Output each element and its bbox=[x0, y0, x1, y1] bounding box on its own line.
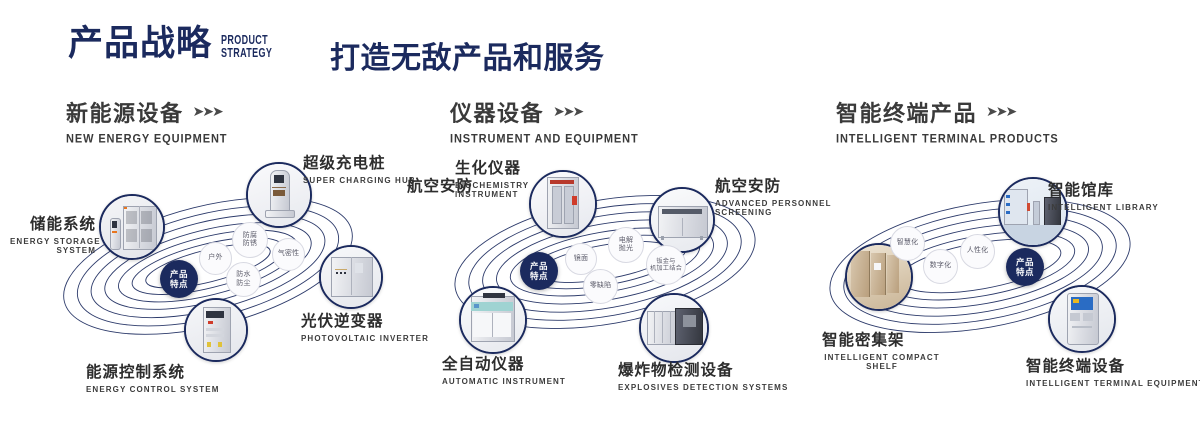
page-header: 产品战略 PRODUCT STRATEGY bbox=[68, 26, 292, 61]
section-title-cn: 仪器设备 ➤➤➤ bbox=[450, 96, 639, 128]
node-explosives-detection-systems[interactable] bbox=[639, 293, 709, 363]
section-title-en: INTELLIGENT TERMINAL PRODUCTS bbox=[836, 133, 1059, 146]
node-energy-storage-system[interactable] bbox=[99, 194, 165, 260]
label-automatic-instrument: 全自动仪器 AUTOMATIC INSTRUMENT bbox=[442, 352, 566, 386]
section-title-cn: 新能源设备 ➤➤➤ bbox=[66, 96, 227, 128]
label-biochemistry-instrument: 生化仪器 BIOCHEMISTRY INSTRUMENT bbox=[455, 156, 529, 199]
section-title-en: INSTRUMENT AND EQUIPMENT bbox=[450, 133, 639, 146]
chevron-right-icon: ➤➤➤ bbox=[193, 103, 222, 120]
section-title-instrument: 仪器设备 ➤➤➤ INSTRUMENT AND EQUIPMENT bbox=[450, 96, 639, 145]
section-title-new-energy: 新能源设备 ➤➤➤ NEW ENERGY EQUIPMENT bbox=[66, 96, 227, 145]
page-title: 产品战略 bbox=[68, 26, 212, 61]
feature-bubble: 钣金与 机加工结合 bbox=[646, 245, 686, 285]
label-energy-control-system: 能源控制系统 ENERGY CONTROL SYSTEM bbox=[86, 360, 220, 394]
feature-bubble: 数字化 bbox=[923, 249, 958, 284]
diagram-instrument: 产品 特点 镜面 电解 抛光 钣金与 机加工结合 零缺陷 航空安防 生化仪器 B… bbox=[420, 150, 810, 410]
feature-bubble: 电解 抛光 bbox=[608, 227, 644, 263]
section-title-en: NEW ENERGY EQUIPMENT bbox=[66, 133, 227, 146]
feature-bubble: 人性化 bbox=[960, 234, 995, 269]
section-title-cn: 智能终端产品 ➤➤➤ bbox=[836, 96, 1059, 128]
page-title-english-line1: PRODUCT bbox=[221, 34, 272, 47]
label-photovoltaic-inverter: 光伏逆变器 PHOTOVOLTAIC INVERTER bbox=[301, 309, 429, 343]
node-intelligent-terminal-equipment[interactable] bbox=[1048, 285, 1116, 353]
node-advanced-personnel-screening[interactable] bbox=[649, 187, 715, 253]
feature-bubble: 零缺陷 bbox=[583, 269, 618, 304]
diagram-intelligent-terminal: 智慧化 数字化 人性化 产品 特点 智能馆库 INTELLIGENT LIBRA… bbox=[810, 150, 1200, 410]
node-photovoltaic-inverter[interactable] bbox=[319, 245, 383, 309]
core-bubble-product-features: 产品 特点 bbox=[1006, 248, 1044, 286]
label-intelligent-compact-shelf: 智能密集架 INTELLIGENT COMPACT SHELF bbox=[822, 328, 942, 371]
label-explosives-detection-systems: 爆炸物检测设备 EXPLOSIVES DETECTION SYSTEMS bbox=[618, 358, 788, 392]
feature-bubble: 气密性 bbox=[272, 238, 305, 271]
feature-bubble: 智慧化 bbox=[890, 226, 925, 261]
chevron-right-icon: ➤➤➤ bbox=[553, 103, 582, 120]
feature-bubble: 防水 防尘 bbox=[226, 262, 261, 297]
core-bubble-product-features: 产品 特点 bbox=[160, 260, 198, 298]
label-super-charging-hub: 超级充电桩 SUPER CHARGING HUB bbox=[303, 151, 416, 185]
node-energy-control-system[interactable] bbox=[184, 298, 248, 362]
page-title-english: PRODUCT STRATEGY bbox=[221, 34, 272, 59]
page-title-english-line2: STRATEGY bbox=[221, 47, 272, 60]
feature-bubble: 防腐 防锈 bbox=[232, 222, 268, 258]
feature-bubble: 户外 bbox=[199, 242, 232, 275]
chevron-right-icon: ➤➤➤ bbox=[986, 103, 1015, 120]
label-intelligent-terminal-equipment: 智能终端设备 INTELLIGENT TERMINAL EQUIPMENT bbox=[1026, 354, 1200, 388]
diagram-new-energy: 产品 特点 户外 防腐 防锈 气密性 防水 防尘 储能系统 ENERGY STO… bbox=[40, 150, 430, 410]
label-intelligent-library: 智能馆库 INTELLIGENT LIBRARY bbox=[1048, 178, 1159, 212]
node-biochemistry-instrument[interactable] bbox=[529, 170, 597, 238]
page-subtitle: 打造无敌产品和服务 bbox=[330, 33, 605, 77]
node-automatic-instrument[interactable] bbox=[459, 286, 527, 354]
label-energy-storage-system: 储能系统 ENERGY STORAGE SYSTEM bbox=[10, 212, 96, 255]
core-bubble-product-features: 产品 特点 bbox=[520, 252, 558, 290]
section-title-intelligent-terminal: 智能终端产品 ➤➤➤ INTELLIGENT TERMINAL PRODUCTS bbox=[836, 96, 1059, 145]
product-strategy-infographic: 产品战略 PRODUCT STRATEGY 打造无敌产品和服务 新能源设备 ➤➤… bbox=[0, 0, 1200, 422]
